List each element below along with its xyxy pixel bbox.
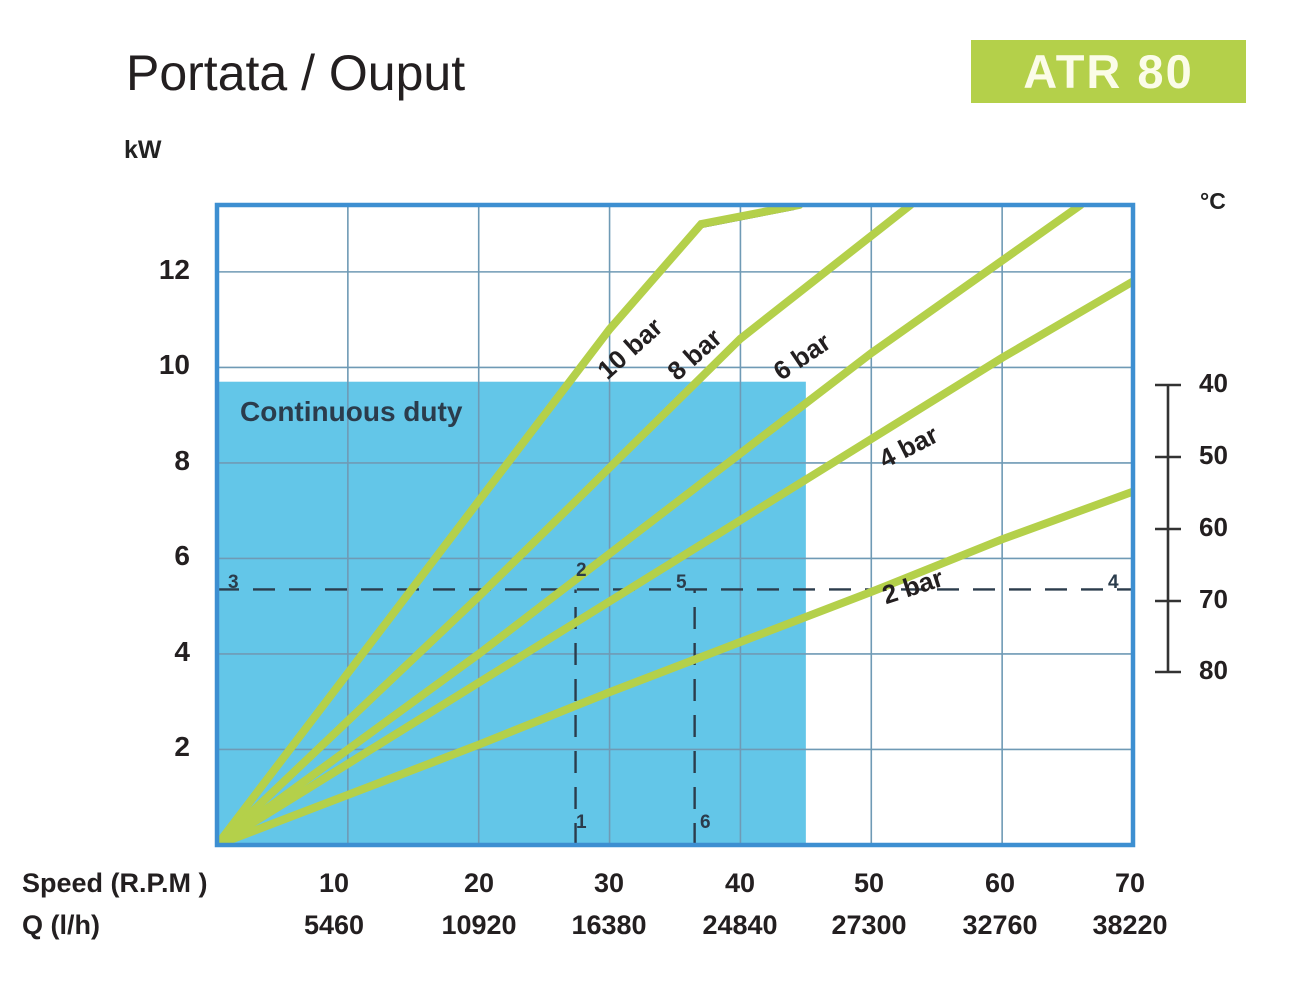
flow-row: Q (l/h) 54601092016380248402730032760382… (14, 910, 1304, 952)
bottom-value-table: Speed (R.P.M ) 10203040506070 Q (l/h) 54… (14, 868, 1304, 952)
flow-cell: 24840 (702, 910, 777, 941)
speed-cell: 70 (1115, 868, 1145, 899)
y-tick-8: 8 (130, 445, 190, 477)
flow-cell: 10920 (441, 910, 516, 941)
speed-cell: 40 (725, 868, 755, 899)
y-tick-10: 10 (130, 349, 190, 381)
temperature-axis (1155, 385, 1181, 672)
flow-cell: 16380 (571, 910, 646, 941)
speed-cell: 10 (319, 868, 349, 899)
temperature-tick-80: 80 (1199, 655, 1259, 686)
continuous-duty-label: Continuous duty (240, 396, 462, 428)
temperature-tick-40: 40 (1199, 368, 1259, 399)
mark-6: 6 (700, 812, 711, 834)
y-tick-2: 2 (130, 731, 190, 763)
flow-cell: 5460 (304, 910, 364, 941)
y-tick-4: 4 (130, 636, 190, 668)
chart-page: Portata / Ouput ATR 80 kW °C (0, 0, 1314, 1000)
speed-cell: 30 (594, 868, 624, 899)
mark-4: 4 (1108, 572, 1119, 594)
speed-cell: 20 (464, 868, 494, 899)
mark-2: 2 (576, 560, 587, 582)
flow-cell: 32760 (962, 910, 1037, 941)
temperature-tick-70: 70 (1199, 584, 1259, 615)
y-tick-12: 12 (130, 254, 190, 286)
speed-cell: 60 (985, 868, 1015, 899)
plot-area (0, 0, 1314, 1000)
mark-1: 1 (576, 812, 587, 834)
speed-row: Speed (R.P.M ) 10203040506070 (14, 868, 1304, 910)
speed-row-label: Speed (R.P.M ) (22, 868, 208, 899)
temperature-tick-50: 50 (1199, 440, 1259, 471)
flow-cell: 38220 (1092, 910, 1167, 941)
flow-row-label: Q (l/h) (22, 910, 100, 941)
speed-cell: 50 (854, 868, 884, 899)
temperature-tick-60: 60 (1199, 512, 1259, 543)
mark-5: 5 (676, 572, 687, 594)
y-tick-6: 6 (130, 540, 190, 572)
chart-svg (0, 0, 1314, 1000)
mark-3: 3 (228, 572, 239, 594)
flow-cell: 27300 (831, 910, 906, 941)
continuous-duty-region (217, 382, 806, 845)
